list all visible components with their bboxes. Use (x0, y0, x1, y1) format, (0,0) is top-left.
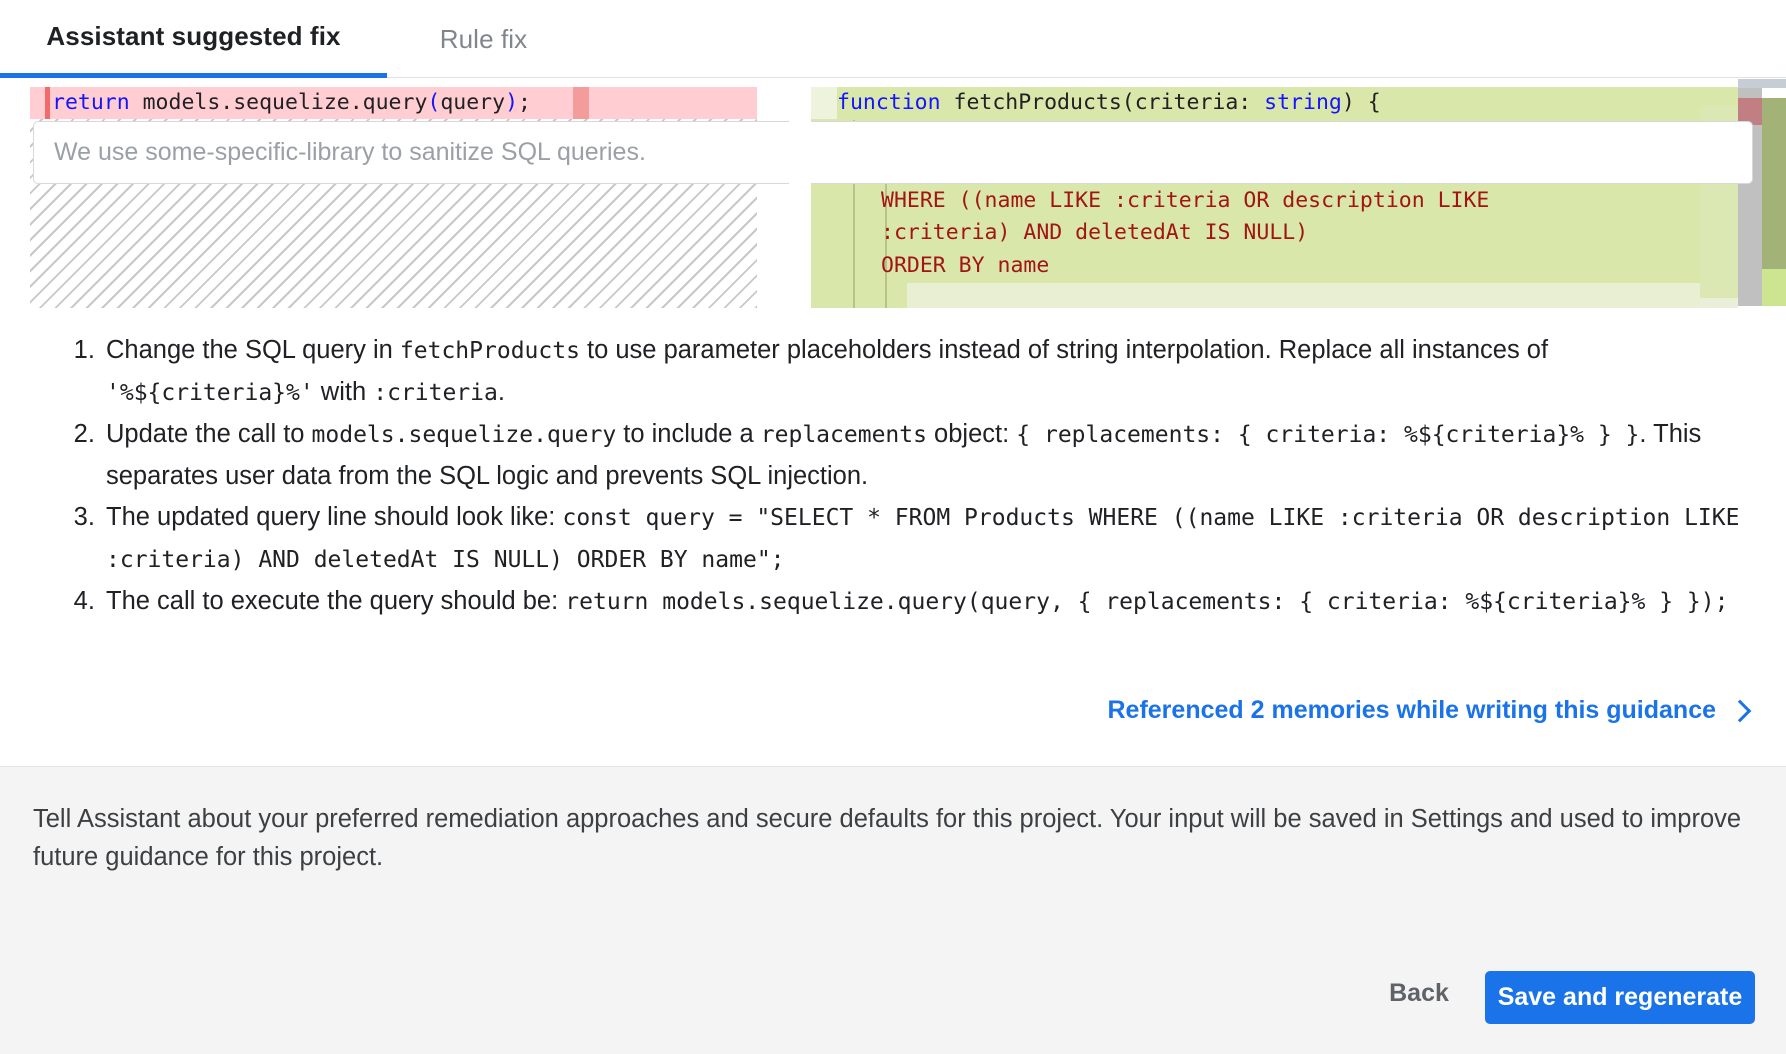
tab-assistant-suggested-fix[interactable]: Assistant suggested fix (0, 0, 387, 78)
step-text-pre: Change the SQL query in (106, 336, 400, 364)
scrollbar-top-cap (1738, 79, 1786, 88)
guidance-section: Change the SQL query in fetchProducts to… (0, 308, 1786, 740)
referenced-memories-link[interactable]: Referenced 2 memories while writing this… (1108, 696, 1749, 725)
tab-bar: Assistant suggested fix Rule fix (0, 0, 1786, 78)
removed-line-marker (45, 87, 50, 119)
code-token-tail: ) { (1342, 90, 1381, 115)
line-number-gutter-after (789, 79, 811, 308)
diff-removed-line: return models.sequelize.query(query); (30, 87, 757, 119)
save-and-regenerate-button[interactable]: Save and regenerate (1485, 971, 1755, 1024)
list-item: The updated query line should look like:… (102, 497, 1746, 581)
list-item: The call to execute the query should be:… (102, 581, 1746, 623)
diff-pane-before[interactable]: return models.sequelize.query(query); (0, 79, 757, 308)
step-text-mid2: object: (927, 420, 1016, 448)
scrollbar-thumb-after[interactable] (1762, 98, 1786, 269)
line-number-gutter-before (0, 79, 30, 308)
inline-code: :criteria (373, 380, 498, 406)
minimap-added-marker (1762, 269, 1786, 306)
step-text-mid2: with (314, 378, 374, 406)
step-text-pre: The updated query line should look like: (106, 503, 562, 531)
added-line-highlight (907, 283, 1730, 308)
tab-rule-fix[interactable]: Rule fix (387, 0, 580, 78)
list-item: Update the call to models.sequelize.quer… (102, 414, 1746, 497)
code-token-keyword: function (837, 90, 941, 115)
step-text-pre: Update the call to (106, 420, 312, 448)
diff-pane-after[interactable]: function fetchProducts(criteria: string)… (789, 79, 1738, 308)
step-text-mid: to include a (616, 420, 761, 448)
inline-code: replacements (761, 422, 927, 448)
step-text-mid: to use parameter placeholders instead of… (580, 336, 1548, 364)
referenced-memories-label: Referenced 2 memories while writing this… (1108, 696, 1717, 725)
inline-code: models.sequelize.query (312, 422, 617, 448)
inline-code: fetchProducts (400, 338, 580, 364)
assistant-fix-panel: Assistant suggested fix Rule fix return … (0, 0, 1786, 1054)
code-line: function fetchProducts(criteria: string)… (837, 87, 1738, 120)
code-line: :criteria) AND deletedAt IS NULL) (837, 217, 1738, 250)
added-first-line-gutter (811, 87, 837, 119)
code-line: WHERE ((name LIKE :criteria OR descripti… (837, 185, 1738, 218)
code-token-paren-close: ) (505, 87, 518, 120)
inline-code: '%${criteria}%' (106, 380, 314, 406)
code-token-semicolon: ; (518, 87, 531, 120)
back-button[interactable]: Back (1370, 975, 1468, 1011)
inline-code: return models.sequelize.query(query, { r… (565, 589, 1728, 615)
tab-label: Rule fix (440, 24, 528, 55)
code-token-argument: query (440, 87, 505, 120)
step-text-pre: The call to execute the query should be: (106, 587, 565, 615)
guidance-step-list: Change the SQL query in fetchProducts to… (40, 330, 1746, 623)
code-token-signature: fetchProducts(criteria: (941, 90, 1265, 115)
list-item: Change the SQL query in fetchProducts to… (102, 330, 1746, 414)
code-token-member: models.sequelize.query (130, 87, 428, 120)
code-token-keyword: return (52, 87, 130, 120)
chevron-right-icon (1729, 699, 1752, 722)
step-text-post: . (498, 378, 505, 406)
minimap-added-overview-faded (1700, 298, 1738, 308)
removed-line-end-highlight (573, 87, 589, 119)
feedback-description: Tell Assistant about your preferred reme… (33, 800, 1745, 876)
preferences-input[interactable] (33, 121, 1753, 184)
diff-scrollbar[interactable] (1738, 79, 1786, 308)
code-token-paren-open: ( (427, 87, 440, 120)
code-line: ORDER BY name (837, 250, 1738, 283)
code-diff-viewer: return models.sequelize.query(query); fu… (0, 79, 1786, 308)
code-token-type: string (1264, 90, 1342, 115)
inline-code: { replacements: { criteria: %${criteria}… (1016, 422, 1639, 448)
tab-label: Assistant suggested fix (46, 21, 340, 52)
